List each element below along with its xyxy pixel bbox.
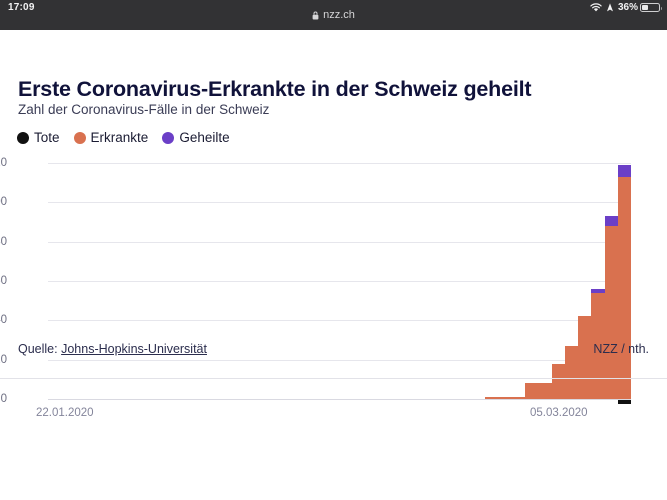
footer-divider [0, 378, 667, 379]
legend-item-label: Erkrankte [91, 130, 149, 145]
bar-segment-geheilte [618, 165, 631, 177]
chart-bar [538, 383, 551, 399]
y-axis-tick-label: 100 [0, 196, 7, 208]
chart-bar [525, 383, 538, 399]
chart-bar [618, 177, 631, 399]
legend-dot-icon [162, 132, 174, 144]
y-axis-tick-label: 120 [0, 157, 7, 169]
chart-bar [552, 364, 565, 399]
y-axis-tick-label: 0 [0, 393, 7, 405]
chart-bar [578, 316, 591, 399]
chart-bar [485, 397, 498, 399]
page-title: Erste Coronavirus-Erkrankte in der Schwe… [18, 77, 531, 102]
article-page: Erste Coronavirus-Erkrankte in der Schwe… [0, 30, 667, 500]
bar-segment-geheilte [591, 289, 604, 293]
source-prefix-label: Quelle: [18, 342, 61, 356]
gridline [48, 399, 631, 400]
y-axis-tick-label: 40 [0, 314, 7, 326]
bar-segment-erkrankte [565, 346, 578, 399]
source-link[interactable]: Johns-Hopkins-Universität [61, 342, 207, 356]
x-axis-label-start: 22.01.2020 [36, 407, 94, 419]
chart-legend: ToteErkrankteGeheilte [17, 130, 230, 145]
legend-dot-icon [17, 132, 29, 144]
bar-segment-erkrankte [552, 364, 565, 399]
x-axis-label-end: 05.03.2020 [530, 407, 588, 419]
bar-segment-erkrankte [499, 397, 512, 399]
y-axis-tick-label: 80 [0, 236, 7, 248]
bar-segment-erkrankte [538, 383, 551, 399]
chart-bar [565, 346, 578, 399]
y-axis-tick-label: 20 [0, 354, 7, 366]
chart-source: Quelle: Johns-Hopkins-Universität [18, 342, 207, 356]
chart-credit: NZZ / nth. [593, 342, 649, 356]
bar-segment-erkrankte [578, 316, 591, 399]
legend-item: Geheilte [162, 130, 229, 145]
bar-segment-erkrankte [618, 177, 631, 399]
chart-plot-area: 020406080100120 [48, 163, 631, 399]
bar-segment-geheilte [605, 216, 618, 226]
bar-segment-erkrankte [512, 397, 525, 399]
browser-chrome: 17:09 36% nzz.ch [0, 0, 667, 30]
chart-bar [605, 226, 618, 399]
bar-segment-erkrankte [605, 226, 618, 399]
legend-item-label: Tote [34, 130, 60, 145]
legend-item: Erkrankte [74, 130, 149, 145]
chart-bar [512, 397, 525, 399]
bar-segment-erkrankte [525, 383, 538, 399]
chart-bars [48, 163, 631, 399]
chart-subtitle: Zahl der Coronavirus-Fälle in der Schwei… [18, 102, 269, 117]
chart-bar [499, 397, 512, 399]
legend-item: Tote [17, 130, 60, 145]
url-text: nzz.ch [323, 9, 355, 21]
url-bar[interactable]: nzz.ch [0, 9, 667, 21]
legend-dot-icon [74, 132, 86, 144]
y-axis-tick-label: 60 [0, 275, 7, 287]
lock-icon [312, 11, 319, 20]
coronavirus-cases-chart: 020406080100120 22.01.2020 05.03.2020 [0, 155, 667, 440]
legend-item-label: Geheilte [179, 130, 229, 145]
bar-segment-tote [618, 400, 631, 404]
bar-segment-erkrankte [485, 397, 498, 399]
